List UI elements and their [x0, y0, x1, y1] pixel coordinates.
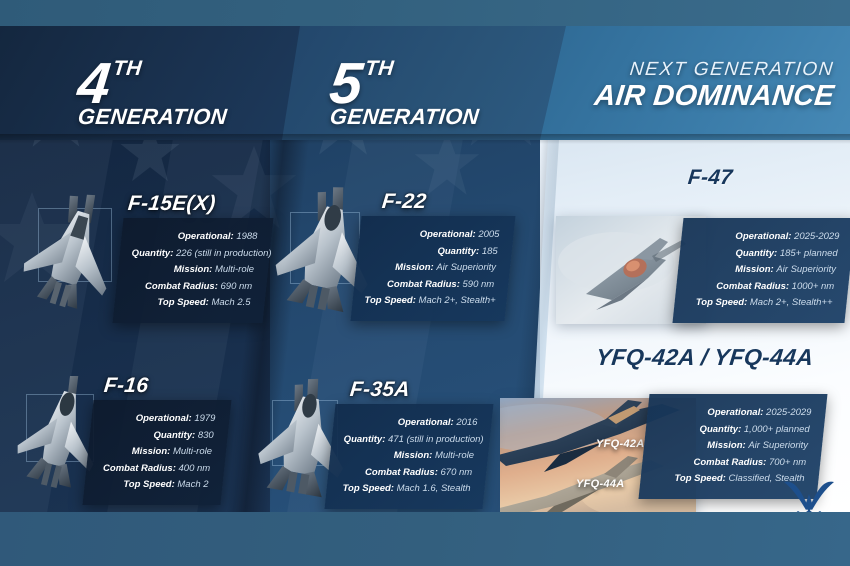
title-ngad-line1: NEXT GENERATION	[571, 60, 835, 79]
spec-row: Mission: Air Superiority	[368, 260, 496, 277]
spec-row: Combat Radius: 400 nm	[98, 461, 210, 478]
spec-row: Quantity: 1,000+ planned	[658, 422, 810, 439]
title-4th-word: GENERATION	[77, 106, 228, 128]
spec-row: Top Speed: Mach 2+, Stealth+	[365, 293, 493, 310]
title-5th-ordinal: TH	[364, 58, 395, 79]
spec-row: Quantity: 830	[102, 428, 214, 445]
aircraft-name-f16: F-16	[103, 374, 150, 398]
spec-row: Operational: 2025-2029	[659, 405, 811, 422]
title-4th-ordinal: TH	[112, 58, 143, 79]
infographic-root: 4TH GENERATION 5TH GENERATION NEXT GENER…	[0, 0, 850, 566]
title-4th-number: 4	[75, 58, 113, 110]
letterbox-bottom	[0, 512, 850, 566]
spec-row: Top Speed: Mach 2+, Stealth++	[687, 295, 833, 312]
spec-row: Operational: 1979	[103, 411, 215, 428]
spec-card-f47: Operational: 2025-2029 Quantity: 185+ pl…	[673, 218, 850, 323]
letterbox-top	[0, 0, 850, 26]
aircraft-name-f15: F-15E(X)	[127, 192, 217, 216]
spec-row: Top Speed: Mach 1.6, Stealth	[339, 481, 471, 498]
aircraft-name-f47: F-47	[687, 166, 734, 190]
aircraft-name-f22: F-22	[381, 190, 428, 214]
spec-row: Top Speed: Mach 2	[97, 477, 209, 494]
spec-row: Mission: Multi-role	[100, 444, 212, 461]
aircraft-name-yfq: YFQ-42A / YFQ-44A	[595, 344, 815, 371]
spec-row: Combat Radius: 590 nm	[366, 277, 494, 294]
title-5th-word: GENERATION	[329, 106, 480, 128]
aircraft-name-f35: F-35A	[349, 378, 411, 402]
title-next-generation-air-dominance: NEXT GENERATION AIR DOMINANCE	[572, 60, 834, 111]
infographic-canvas: 4TH GENERATION 5TH GENERATION NEXT GENER…	[0, 26, 850, 512]
spec-row: Combat Radius: 690 nm	[128, 279, 252, 296]
spec-row: Quantity: 471 (still in production)	[344, 432, 476, 449]
spec-row: Quantity: 226 (still in production)	[132, 246, 256, 263]
spec-card-f35: Operational: 2016 Quantity: 471 (still i…	[325, 404, 494, 509]
spec-row: Combat Radius: 670 nm	[340, 465, 472, 482]
spec-row: Operational: 2005	[371, 227, 499, 244]
title-5th-generation: 5TH GENERATION	[330, 58, 479, 128]
header-dropshadow	[0, 134, 850, 144]
photo-label-yfq-44a: YFQ-44A	[576, 478, 625, 490]
spec-card-f22: Operational: 2005 Quantity: 185 Mission:…	[351, 216, 516, 321]
spec-row: Combat Radius: 1000+ nm	[688, 279, 834, 296]
spec-row: Mission: Air Superiority	[690, 262, 836, 279]
spec-row: Mission: Multi-role	[342, 448, 474, 465]
spec-row: Mission: Air Superiority	[656, 438, 808, 455]
spec-row: Operational: 1988	[133, 229, 257, 246]
spec-row: Operational: 2016	[345, 415, 477, 432]
spec-row: Top Speed: Mach 2.5	[127, 295, 251, 312]
spec-row: Quantity: 185	[370, 244, 498, 261]
title-4th-generation: 4TH GENERATION	[78, 58, 227, 128]
spec-row: Combat Radius: 700+ nm	[654, 455, 806, 472]
photo-label-yfq-42a: YFQ-42A	[596, 438, 645, 450]
spec-row: Mission: Multi-role	[130, 262, 254, 279]
title-5th-number: 5	[327, 58, 365, 110]
spec-card-f15: Operational: 1988 Quantity: 226 (still i…	[113, 218, 274, 323]
spec-row: Operational: 2025-2029	[693, 229, 839, 246]
spec-row: Quantity: 185+ planned	[692, 246, 838, 263]
spec-card-f16: Operational: 1979 Quantity: 830 Mission:…	[83, 400, 232, 505]
usaf-wings-logo-icon	[782, 478, 836, 512]
title-ngad-line2: AIR DOMINANCE	[570, 82, 835, 111]
